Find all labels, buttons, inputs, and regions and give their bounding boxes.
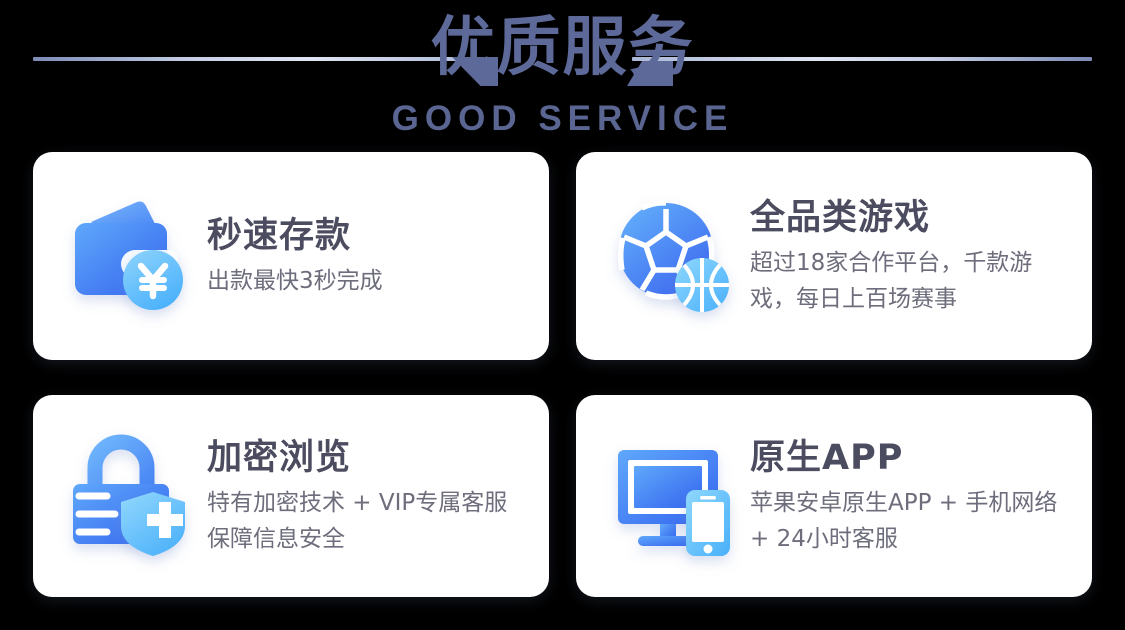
service-card-deposit[interactable]: 秒速存款 出款最快3秒完成 bbox=[33, 152, 549, 360]
service-card-grid: 秒速存款 出款最快3秒完成 bbox=[33, 152, 1092, 597]
soccer-basketball-icon bbox=[610, 192, 738, 320]
wallet-yen-icon bbox=[67, 192, 195, 320]
service-card-encryption[interactable]: 加密浏览 特有加密技术 + VIP专属客服保障信息安全 bbox=[33, 395, 549, 597]
service-card-games[interactable]: 全品类游戏 超过18家合作平台，千款游戏，每日上百场赛事 bbox=[576, 152, 1092, 360]
service-card-desc: 超过18家合作平台，千款游戏，每日上百场赛事 bbox=[750, 245, 1078, 317]
service-card-desc: 特有加密技术 + VIP专属客服保障信息安全 bbox=[207, 485, 529, 557]
service-card-text: 秒速存款 出款最快3秒完成 bbox=[195, 214, 383, 299]
service-card-title: 加密浏览 bbox=[207, 436, 529, 480]
lock-shield-icon bbox=[67, 432, 195, 560]
service-card-title: 原生APP bbox=[750, 436, 1072, 480]
service-card-desc: 出款最快3秒完成 bbox=[207, 263, 383, 299]
service-card-native-app[interactable]: 原生APP 苹果安卓原生APP + 手机网络 + 24小时客服 bbox=[576, 395, 1092, 597]
service-card-text: 加密浏览 特有加密技术 + VIP专属客服保障信息安全 bbox=[195, 436, 529, 557]
service-card-text: 全品类游戏 超过18家合作平台，千款游戏，每日上百场赛事 bbox=[738, 196, 1078, 317]
page-title: 优质服务 bbox=[0, 8, 1125, 88]
service-card-title: 全品类游戏 bbox=[750, 196, 1078, 240]
monitor-phone-icon bbox=[610, 432, 738, 560]
service-card-title: 秒速存款 bbox=[207, 214, 383, 258]
page-subtitle: GOOD SERVICE bbox=[0, 99, 1125, 139]
service-card-desc: 苹果安卓原生APP + 手机网络 + 24小时客服 bbox=[750, 485, 1072, 557]
service-card-text: 原生APP 苹果安卓原生APP + 手机网络 + 24小时客服 bbox=[738, 436, 1072, 557]
page-header: 优质服务 GOOD SERVICE bbox=[0, 0, 1125, 148]
